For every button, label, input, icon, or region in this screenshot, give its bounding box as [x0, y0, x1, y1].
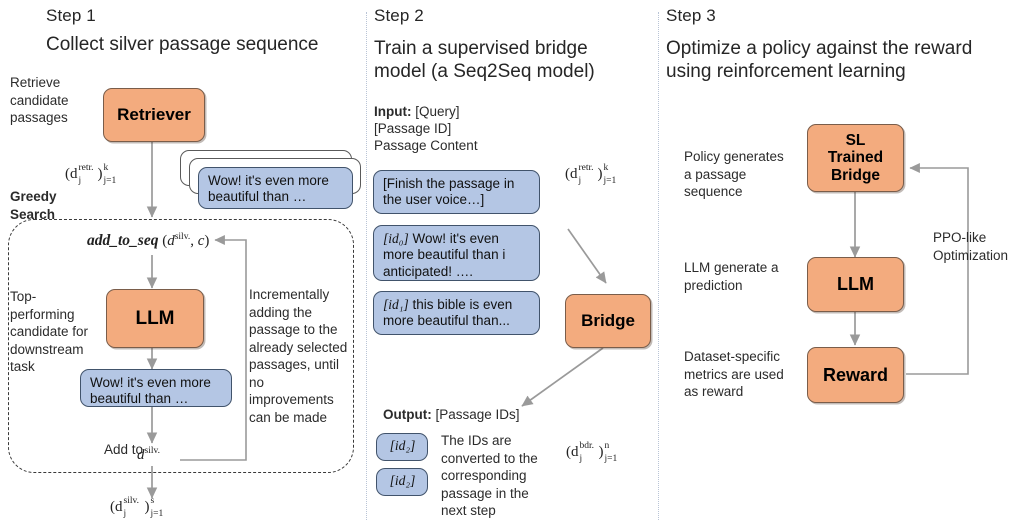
sl-trained-bridge-box[interactable]: SL Trained Bridge — [807, 124, 904, 192]
step-3-label: Step 3 — [666, 6, 716, 26]
output-header: Output: [Passage IDs] — [383, 406, 520, 424]
output-card-1-id: id₂ — [395, 473, 410, 488]
output-card-0-id: id₂ — [395, 438, 410, 453]
step-2-label: Step 2 — [374, 6, 424, 26]
column-divider-2 — [658, 12, 659, 520]
llm-box-step3[interactable]: LLM — [807, 257, 904, 312]
step2-retr-sequence-math: (dretr.j)kj=1 — [565, 166, 625, 183]
input-line-2: Passage Content — [374, 137, 478, 155]
input-header-bold: Input: — [374, 104, 411, 119]
llm-box-step1[interactable]: LLM — [106, 289, 204, 348]
add-to-seq-math: add_to_seq (dsilv., c) — [87, 232, 209, 250]
incremental-note: Incrementally adding the passage to the … — [249, 286, 349, 426]
step-1-title: Collect silver passage sequence — [46, 33, 356, 56]
output-card-1[interactable]: [id₂] — [376, 468, 428, 496]
policy-generates-note: Policy generates a passage sequence — [684, 148, 800, 201]
input-card-query[interactable]: [Finish the passage in the user voice…] — [373, 170, 540, 214]
d-silv-math: dsilv. — [137, 447, 160, 464]
retriever-box[interactable]: Retriever — [103, 88, 205, 142]
llm-output-card[interactable]: Wow! it's even more beautiful than … — [80, 369, 232, 407]
step-1-label: Step 1 — [46, 6, 96, 26]
reward-metrics-note: Dataset-specific metrics are used as rew… — [684, 348, 804, 401]
input-header: Input: [Query] — [374, 103, 460, 121]
output-header-bold: Output: — [383, 407, 432, 422]
reward-box[interactable]: Reward — [807, 347, 904, 403]
greedy-search-label: Greedy Search — [10, 188, 96, 223]
column-divider-1 — [366, 12, 367, 520]
bdr-sequence-math: (dbdr.j)nj=1 — [566, 444, 624, 461]
input-card-0-id: id₀ — [388, 231, 403, 246]
diagram-canvas: Step 1 Collect silver passage sequence R… — [0, 0, 1024, 526]
input-card-1-id: id₁ — [388, 297, 403, 312]
llm-prediction-note: LLM generate a prediction — [684, 259, 800, 294]
output-card-0[interactable]: [id₂] — [376, 433, 428, 461]
silv-sequence-math: (dsilv.j)sj=1 — [110, 499, 170, 516]
input-card-passage-1[interactable]: [id₁] this bible is even more beautiful … — [373, 291, 540, 335]
bridge-box[interactable]: Bridge — [565, 294, 651, 348]
retr-sequence-math: (dretr.j)kj=1 — [65, 166, 125, 183]
step-2-title: Train a supervised bridge model (a Seq2S… — [374, 37, 606, 83]
input-card-passage-0[interactable]: [id₀] Wow! it's even more beautiful than… — [373, 225, 540, 281]
output-note: The IDs are converted to the correspondi… — [441, 432, 551, 520]
retrieve-candidate-note: Retrieve candidate passages — [10, 74, 96, 127]
input-header-rest: [Query] — [411, 104, 459, 119]
ppo-optimization-label: PPO-like Optimization — [933, 229, 1024, 264]
step-3-title: Optimize a policy against the reward usi… — [666, 37, 1010, 83]
output-header-rest: [Passage IDs] — [432, 407, 520, 422]
retrieved-passage-card[interactable]: Wow! it's even more beautiful than … — [198, 167, 353, 209]
top-candidate-note: Top- performing candidate for downstream… — [10, 288, 102, 376]
input-line-1: [Passage ID] — [374, 120, 451, 138]
